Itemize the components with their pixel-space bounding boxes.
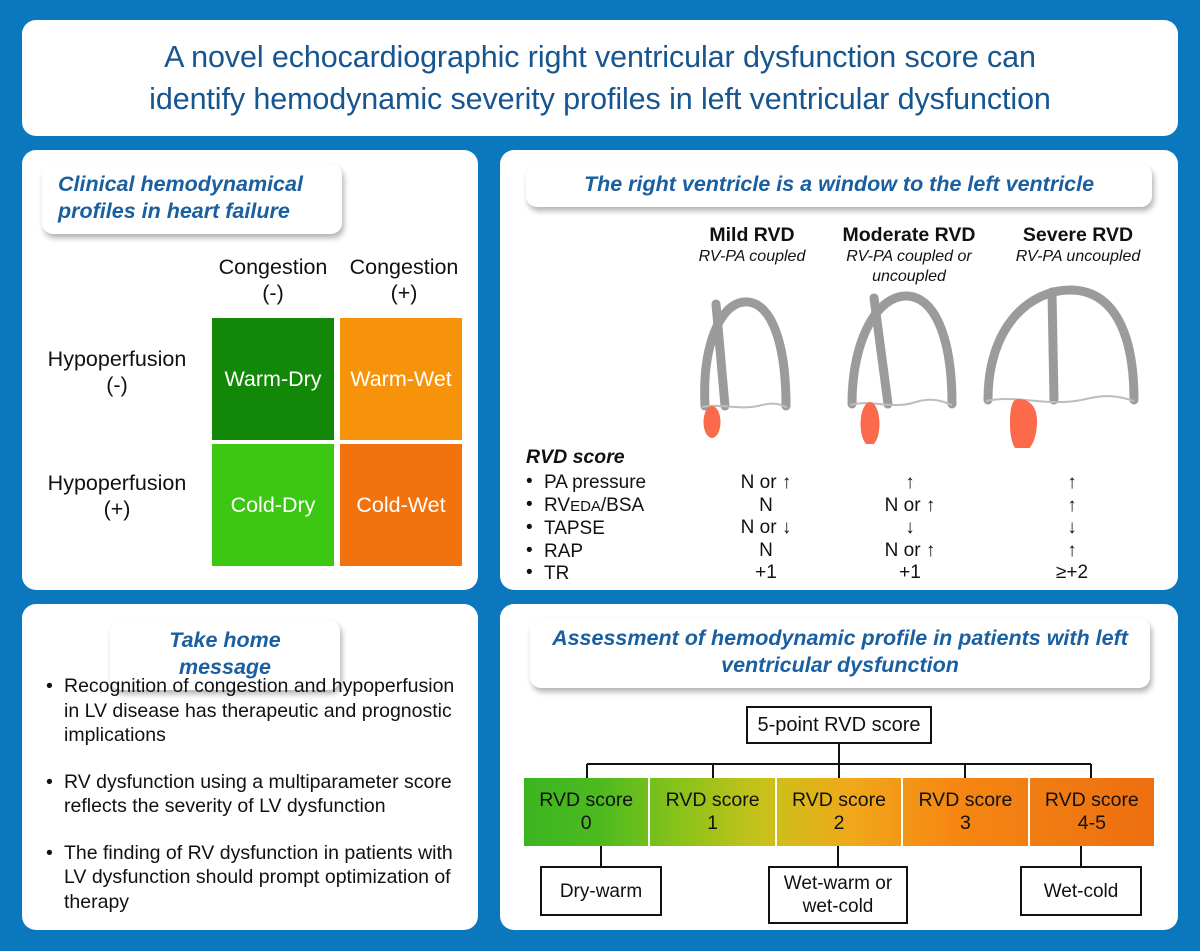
seg-3-label: RVD score bbox=[918, 789, 1012, 812]
quadrant-cell-cold-wet: Cold-Wet bbox=[340, 444, 462, 566]
score-segment-4: RVD score 4-5 bbox=[1030, 778, 1154, 846]
root-node-5-point-rvd-score: 5-point RVD score bbox=[746, 706, 932, 744]
mild-subtitle: RV-PA coupled bbox=[662, 247, 842, 266]
seg-4-value: 4-5 bbox=[1078, 812, 1106, 835]
panel-profiles-header: Clinical hemodynamical profiles in heart… bbox=[42, 164, 342, 234]
seg-4-label: RVD score bbox=[1045, 789, 1139, 812]
panel-assessment-flow: Assessment of hemodynamic profile in pat… bbox=[500, 604, 1178, 930]
mild-val-2: N or ↓ bbox=[686, 517, 846, 540]
mild-val-4: +1 bbox=[686, 562, 846, 585]
seg-3-value: 3 bbox=[960, 812, 971, 835]
tr-jet-moderate bbox=[861, 402, 880, 444]
row-1-name: Hypoperfusion bbox=[48, 471, 187, 495]
mod-val-2: ↓ bbox=[830, 517, 990, 540]
heart-diagram-severe bbox=[966, 268, 1162, 453]
leaf-node-dry-warm: Dry-warm bbox=[540, 866, 662, 916]
take-home-bullet-3: The finding of RV dysfunction in patient… bbox=[44, 841, 464, 915]
leaf-node-wet-warm-or-wet-cold: Wet-warm or wet-cold bbox=[768, 866, 908, 924]
sev-val-3: ↑ bbox=[992, 540, 1152, 563]
mild-val-0: N or ↑ bbox=[686, 472, 846, 495]
page-title: A novel echocardiographic right ventricu… bbox=[149, 36, 1051, 120]
sev-val-2: ↓ bbox=[992, 517, 1152, 540]
sev-val-1: ↑ bbox=[992, 495, 1152, 518]
score-segment-1: RVD score 1 bbox=[650, 778, 776, 846]
column-header-congestion-negative: Congestion (-) bbox=[208, 254, 338, 306]
row-0-name: Hypoperfusion bbox=[48, 347, 187, 371]
leaf-node-wet-cold: Wet-cold bbox=[1020, 866, 1142, 916]
severe-title: Severe RVD bbox=[988, 224, 1168, 247]
mod-val-4: +1 bbox=[830, 562, 990, 585]
sev-val-4: ≥+2 bbox=[992, 562, 1152, 585]
panel-right-ventricle: The right ventricle is a window to the l… bbox=[500, 150, 1178, 590]
seg-1-label: RVD score bbox=[666, 789, 760, 812]
col-1-sign: (+) bbox=[391, 281, 418, 305]
panel-rv-header: The right ventricle is a window to the l… bbox=[526, 164, 1152, 207]
score-segment-3: RVD score 3 bbox=[903, 778, 1029, 846]
title-line-2: identify hemodynamic severity profiles i… bbox=[149, 82, 1051, 116]
col-0-name: Congestion bbox=[219, 255, 328, 279]
mod-val-0: ↑ bbox=[830, 472, 990, 495]
seg-1-value: 1 bbox=[707, 812, 718, 835]
severe-subtitle: RV-PA uncoupled bbox=[988, 247, 1168, 266]
mild-title: Mild RVD bbox=[662, 224, 842, 247]
tr-jet-mild bbox=[704, 406, 721, 438]
col-0-sign: (-) bbox=[262, 281, 283, 305]
seg-0-value: 0 bbox=[581, 812, 592, 835]
heart-diagram-moderate bbox=[812, 272, 992, 449]
row-header-hypoperfusion-negative: Hypoperfusion (-) bbox=[26, 346, 208, 398]
quadrant-cell-warm-dry: Warm-Dry bbox=[212, 318, 334, 440]
mild-val-1: N bbox=[686, 495, 846, 518]
take-home-bullet-list: Recognition of congestion and hypoperfus… bbox=[44, 674, 464, 936]
panel-assessment-header: Assessment of hemodynamic profile in pat… bbox=[530, 618, 1150, 688]
row-1-sign: (+) bbox=[104, 497, 131, 521]
hemodynamic-quadrant-matrix: Congestion (-) Congestion (+) Hypoperfus… bbox=[22, 246, 478, 586]
rvd-score-gradient-bar: RVD score 0 RVD score 1 RVD score 2 RVD … bbox=[524, 778, 1154, 846]
col-1-name: Congestion bbox=[350, 255, 459, 279]
column-header-congestion-positive: Congestion (+) bbox=[339, 254, 469, 306]
tr-jet-severe bbox=[1010, 399, 1037, 448]
seg-0-label: RVD score bbox=[539, 789, 633, 812]
row-header-hypoperfusion-positive: Hypoperfusion (+) bbox=[26, 470, 208, 522]
score-segment-2: RVD score 2 bbox=[777, 778, 903, 846]
rvd-score-label: RVD score bbox=[526, 446, 625, 469]
rvd-column-header-mild: Mild RVD RV-PA coupled bbox=[662, 224, 842, 267]
score-segment-0: RVD score 0 bbox=[524, 778, 650, 846]
panel-clinical-profiles: Clinical hemodynamical profiles in heart… bbox=[22, 150, 478, 590]
quadrant-cell-warm-wet: Warm-Wet bbox=[340, 318, 462, 440]
take-home-bullet-1: Recognition of congestion and hypoperfus… bbox=[44, 674, 464, 748]
mod-val-3: N or ↑ bbox=[830, 540, 990, 563]
seg-2-value: 2 bbox=[834, 812, 845, 835]
seg-2-label: RVD score bbox=[792, 789, 886, 812]
mod-val-1: N or ↑ bbox=[830, 495, 990, 518]
title-card: A novel echocardiographic right ventricu… bbox=[22, 20, 1178, 136]
take-home-bullet-2: RV dysfunction using a multiparameter sc… bbox=[44, 770, 464, 819]
row-0-sign: (-) bbox=[106, 373, 127, 397]
infographic-root: A novel echocardiographic right ventricu… bbox=[0, 0, 1200, 951]
sev-val-0: ↑ bbox=[992, 472, 1152, 495]
rvd-values-moderate: ↑ N or ↑ ↓ N or ↑ +1 bbox=[830, 472, 990, 585]
mild-val-3: N bbox=[686, 540, 846, 563]
rvd-column-header-severe: Severe RVD RV-PA uncoupled bbox=[988, 224, 1168, 267]
rvd-values-mild: N or ↑ N N or ↓ N +1 bbox=[686, 472, 846, 585]
heart-diagram-mild bbox=[650, 278, 820, 448]
panel-take-home-message: Take home message Recognition of congest… bbox=[22, 604, 478, 930]
rvd-values-severe: ↑ ↑ ↓ ↑ ≥+2 bbox=[992, 472, 1152, 585]
moderate-title: Moderate RVD bbox=[816, 224, 1002, 247]
title-line-1: A novel echocardiographic right ventricu… bbox=[164, 40, 1036, 74]
quadrant-cell-cold-dry: Cold-Dry bbox=[212, 444, 334, 566]
